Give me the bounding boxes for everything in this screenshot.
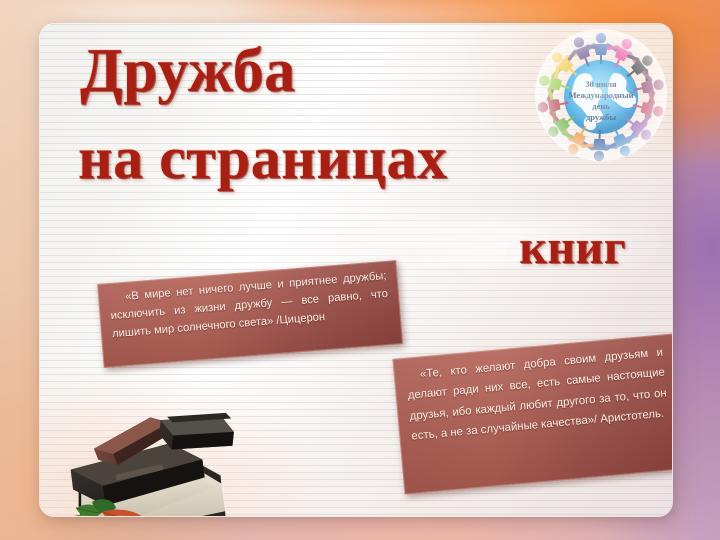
friendship-day-logo: 30 июля Международный день дружбы [533,29,672,161]
stack-of-books-illustration [46,390,258,516]
presentation-slide: Дружба на страницах книг [0,0,720,540]
quote-text-aristotle: «Те, кто желают добра своим друзьям и де… [392,334,672,452]
quote-text-cicero: «В мире нет ничего лучше и приятнее друж… [97,260,401,348]
quote-banner-cicero: «В мире нет ничего лучше и приятнее друж… [97,260,403,368]
notebook-paper-card: Дружба на страницах книг [40,24,672,516]
quote-banner-aristotle: «Те, кто желают добра своим друзьям и де… [392,334,672,495]
